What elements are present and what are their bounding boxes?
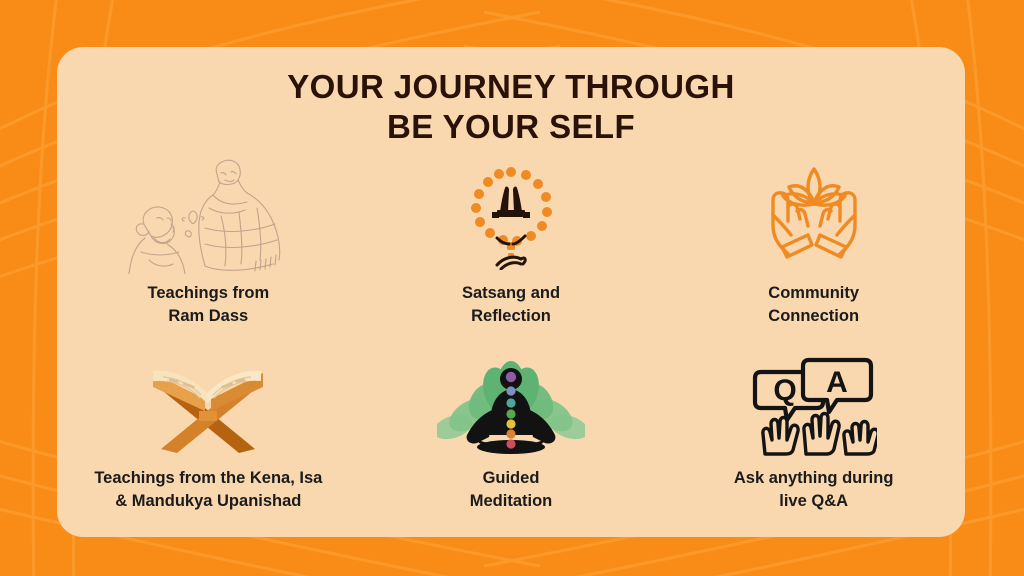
feature-caption: Satsang and Reflection: [462, 282, 560, 329]
svg-text:Q: Q: [773, 374, 796, 407]
meditating-figure-chakras-lotus-icon: [437, 353, 585, 457]
feature-item-qa[interactable]: Q A Ask anything during live Q&A: [662, 347, 965, 537]
caption-line-2: Connection: [768, 307, 859, 325]
content-card: YOUR JOURNEY THROUGH BE YOUR SELF: [57, 47, 965, 537]
caption-line-2: & Mandukya Upanishad: [115, 492, 301, 510]
caption-line-1: Community: [768, 284, 859, 302]
caption-line-2: Reflection: [471, 307, 551, 325]
feature-item-community[interactable]: Community Connection: [662, 152, 965, 347]
feature-caption: Teachings from Ram Dass: [148, 282, 270, 329]
icon-container: [437, 351, 585, 459]
feature-caption: Guided Meditation: [470, 467, 553, 514]
caption-line-1: Guided: [483, 469, 540, 487]
caption-line-2: Meditation: [470, 492, 553, 510]
caption-line-2: Ram Dass: [168, 307, 248, 325]
feature-item-upanishad[interactable]: Teachings from the Kena, Isa & Mandukya …: [57, 347, 360, 537]
slide-canvas: YOUR JOURNEY THROUGH BE YOUR SELF: [0, 0, 1024, 576]
qa-speech-bubbles-raised-hands-icon: Q A: [751, 354, 877, 456]
icon-container: [459, 156, 563, 274]
feature-caption: Community Connection: [768, 282, 859, 329]
feature-item-satsang[interactable]: Satsang and Reflection: [360, 152, 663, 347]
title-line-2: BE YOUR SELF: [57, 107, 965, 147]
icon-container: [121, 156, 296, 274]
caption-line-1: Satsang and: [462, 284, 560, 302]
hands-holding-lotus-icon: [751, 163, 877, 267]
feature-grid: Teachings from Ram Dass: [57, 152, 965, 537]
caption-line-1: Teachings from: [148, 284, 270, 302]
guru-disciple-sketch-icon: [121, 156, 296, 274]
icon-container: Q A: [751, 351, 877, 459]
caption-line-1: Teachings from the Kena, Isa: [94, 469, 322, 487]
feature-caption: Teachings from the Kena, Isa & Mandukya …: [94, 467, 322, 514]
caption-line-2: live Q&A: [779, 492, 848, 510]
icon-container: [751, 156, 877, 274]
page-title: YOUR JOURNEY THROUGH BE YOUR SELF: [57, 67, 965, 148]
caption-line-1: Ask anything during: [734, 469, 894, 487]
open-book-on-rehal-stand-icon: [143, 357, 273, 453]
title-line-1: YOUR JOURNEY THROUGH: [287, 68, 734, 105]
feature-item-meditation[interactable]: Guided Meditation: [360, 347, 663, 537]
feature-caption: Ask anything during live Q&A: [734, 467, 894, 514]
icon-container: [143, 351, 273, 459]
feature-item-ram-dass[interactable]: Teachings from Ram Dass: [57, 152, 360, 347]
svg-text:A: A: [826, 366, 848, 399]
mala-beads-namaste-icon: [459, 160, 563, 270]
